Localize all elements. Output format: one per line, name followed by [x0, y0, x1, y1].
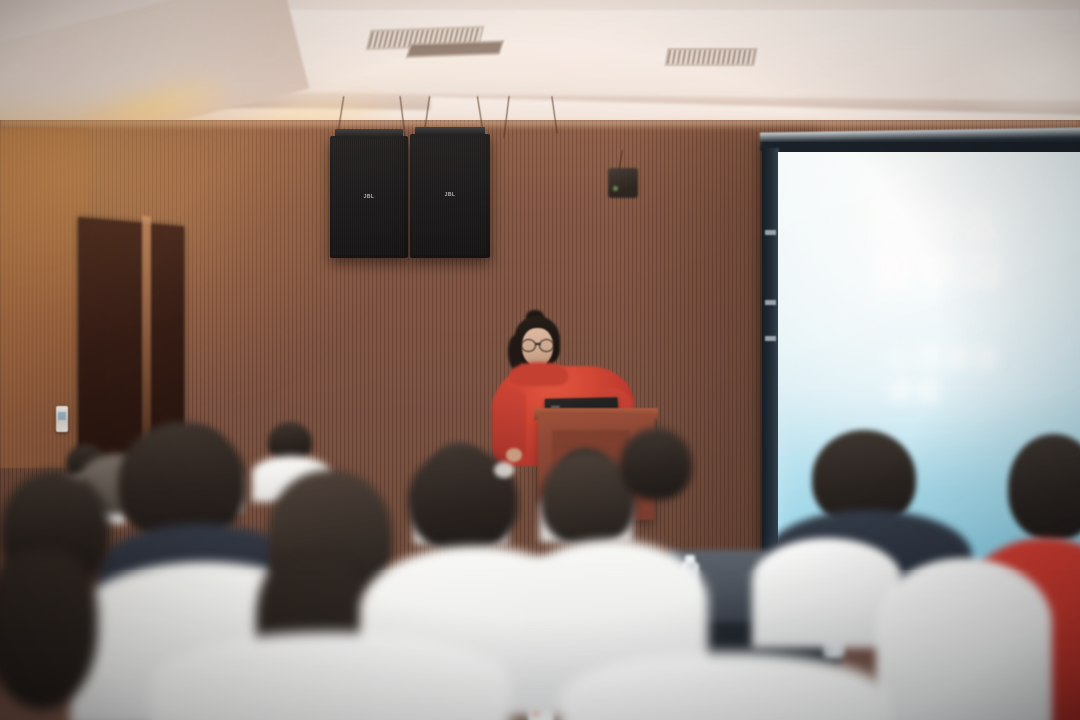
glasses-lens-left	[521, 339, 536, 352]
audience-torso	[876, 558, 1052, 720]
ceiling-speaker-left: JBL	[330, 136, 408, 258]
wall-mounted-camera-icon	[608, 168, 638, 198]
speaker-brand-label: JBL	[445, 192, 456, 198]
speaker-bracket	[335, 129, 404, 137]
air-vent-icon	[664, 48, 757, 66]
audience-head	[620, 428, 692, 500]
audience-head	[1008, 434, 1080, 540]
glasses-lens-right	[539, 339, 554, 352]
slide-heading: 为什么 要学习	[874, 202, 1080, 296]
screen-rail-clip	[765, 336, 776, 341]
bottle-cap-icon	[685, 555, 695, 563]
glasses-icon	[521, 339, 554, 350]
lecture-hall-photo: JBL JBL 为什么 要学习 心理健康 课程	[0, 0, 1080, 720]
hair-tie	[494, 462, 514, 478]
audience-rows	[0, 400, 1080, 720]
screen-rail-clip	[765, 230, 776, 235]
presenter-jacket-hood	[510, 362, 568, 386]
screen-rail-clip	[765, 300, 776, 305]
speaker-brand-label: JBL	[364, 194, 375, 200]
wall-warm-light-glow	[0, 110, 380, 410]
speaker-bracket	[415, 127, 485, 135]
ceiling-speaker-right: JBL	[410, 134, 490, 258]
